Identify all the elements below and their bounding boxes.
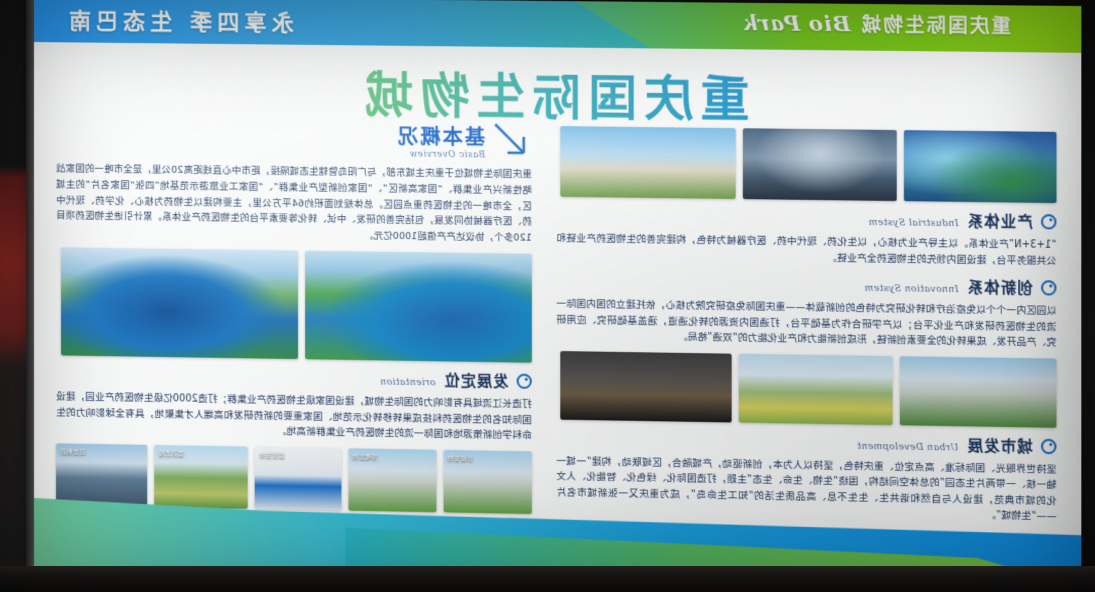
room-photo: 重庆国际生物城 Bio Park 永享四季 生态巴南 重庆国际生物城 <box>0 0 1095 592</box>
basic-overview-badge: 基本概况 Basic Overview <box>54 116 530 161</box>
badge-title-cn: 基本概况 <box>396 120 485 150</box>
corner-arrow-icon <box>493 121 530 156</box>
section-heading-innovation-system: 创新体系 Innovation System <box>554 270 1056 298</box>
section-heading-orientation: 发展定位 orientation <box>54 363 532 392</box>
photo-campus-plaza <box>900 356 1057 428</box>
brand-name-cn: 重庆国际生物城 <box>860 10 1011 39</box>
photo-factory-aerial <box>739 353 893 424</box>
overview-body: 重庆国际生物城位于重庆主城东部，与广阳岛管辖生态城隔接，距市中心直线距离20公里… <box>56 161 532 246</box>
photo-caption: 博唯生物 <box>352 451 377 460</box>
photo-museum-render <box>743 128 897 201</box>
left-column: 产业体系 Industrial System “1+3+N”产业体系。以主导产业… <box>554 122 1058 532</box>
left-top-photo-strip <box>556 126 1056 203</box>
bullet-dot-icon <box>517 374 532 389</box>
photo-caption: 智睿生物 <box>447 453 473 462</box>
photo-night-blocks <box>560 351 731 422</box>
photo-hospital-building <box>560 126 735 199</box>
projection-screen: 重庆国际生物城 Bio Park 永享四季 生态巴南 重庆国际生物城 <box>34 0 1081 588</box>
bullet-dot-icon <box>1041 214 1056 229</box>
photo-caption: 宸安生物 <box>259 449 284 458</box>
bullet-dot-icon <box>1041 438 1056 454</box>
section-title-en: Industrial System <box>868 218 958 229</box>
badge-title-en: Basic Overview <box>396 149 485 160</box>
section-title-en: Urban Development <box>857 441 959 453</box>
presentation-slide: 重庆国际生物城 Bio Park 永享四季 生态巴南 重庆国际生物城 <box>34 0 1081 588</box>
section-title-en: Innovation System <box>864 284 958 295</box>
slide-top-banner: 重庆国际生物城 Bio Park 永享四季 生态巴南 <box>34 0 1081 53</box>
banner-tagline: 永享四季 生态巴南 <box>64 3 294 37</box>
brand-lockup: 重庆国际生物城 Bio Park <box>742 9 1011 39</box>
section-body-innovation-system: 以园区内一个个以免疫治疗和转化研究为特色的创新载体——重庆国际免疫研究院为核心，… <box>556 297 1056 352</box>
section-body-industrial-system: “1+3+N”产业体系。以主导产业为核心，以生化药、现代中药、医疗器械为特色，构… <box>556 231 1056 269</box>
section-title-cn: 产业体系 <box>967 210 1033 232</box>
photo-aerial-interchange <box>904 130 1057 203</box>
photo-lake-aerial-1 <box>305 251 532 363</box>
section-heading-industrial-system: 产业体系 Industrial System <box>554 205 1056 233</box>
right-column: 基本概况 Basic Overview 重庆国际生物城位于重庆主城东部，与广阳岛… <box>54 116 534 519</box>
room-wall-left <box>0 0 38 592</box>
bullet-dot-icon <box>1041 280 1056 295</box>
section-title-cn: 城市发展 <box>967 434 1033 456</box>
photo-lake-aerial-2 <box>61 247 298 359</box>
right-large-photo-strip <box>56 247 532 362</box>
photo-caption: 国药太极 <box>158 448 183 457</box>
section-title-cn: 发展定位 <box>444 369 509 391</box>
section-body-orientation: 打造长江流域具有影响力的国际生物城，建设国家级生物医药产业集群；打造2000亿级… <box>56 389 532 444</box>
brand-name-en: Bio Park <box>742 10 850 36</box>
section-heading-urban-development: 城市发展 Urban Development <box>554 427 1056 457</box>
left-mid-photo-strip <box>556 351 1056 428</box>
section-title-en: orientation <box>380 377 435 388</box>
room-floor <box>0 566 1095 592</box>
photo-caption: 药友制药 <box>60 446 85 455</box>
section-title-cn: 创新体系 <box>967 276 1033 298</box>
